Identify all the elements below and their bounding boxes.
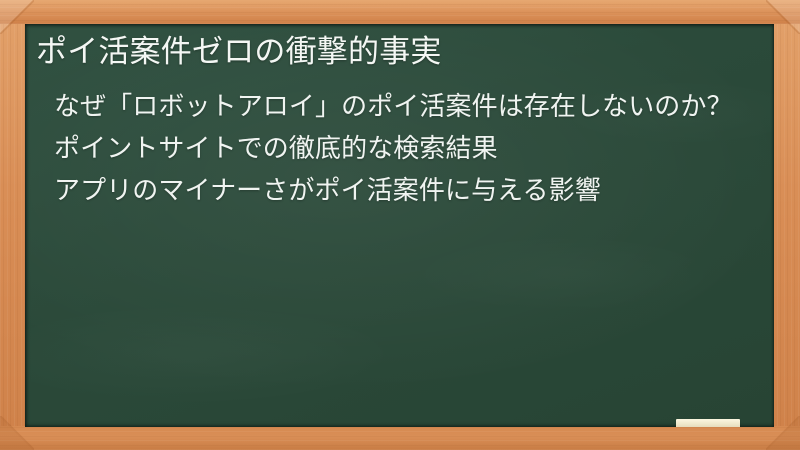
bullet-item-1: なぜ「ロボットアロイ」のポイ活案件は存在しないのか？	[54, 88, 754, 125]
slide-title: ポイ活案件ゼロの衝撃的事実	[36, 33, 754, 72]
board-content: ポイ活案件ゼロの衝撃的事実 なぜ「ロボットアロイ」のポイ活案件は存在しないのか？…	[25, 24, 774, 427]
chalkboard-surface: ポイ活案件ゼロの衝撃的事実 なぜ「ロボットアロイ」のポイ活案件は存在しないのか？…	[25, 24, 774, 427]
blackboard-slide: ポイ活案件ゼロの衝撃的事実 なぜ「ロボットアロイ」のポイ活案件は存在しないのか？…	[0, 0, 800, 450]
bullet-list: なぜ「ロボットアロイ」のポイ活案件は存在しないのか？ ポイントサイトでの徹底的な…	[36, 88, 754, 209]
bullet-item-3: アプリのマイナーさがポイ活案件に与える影響	[54, 172, 754, 209]
chalk-stick-icon	[676, 419, 740, 427]
frame-rail-top	[0, 0, 800, 24]
frame-rail-bottom	[0, 426, 800, 450]
bullet-item-2: ポイントサイトでの徹底的な検索結果	[54, 130, 754, 167]
